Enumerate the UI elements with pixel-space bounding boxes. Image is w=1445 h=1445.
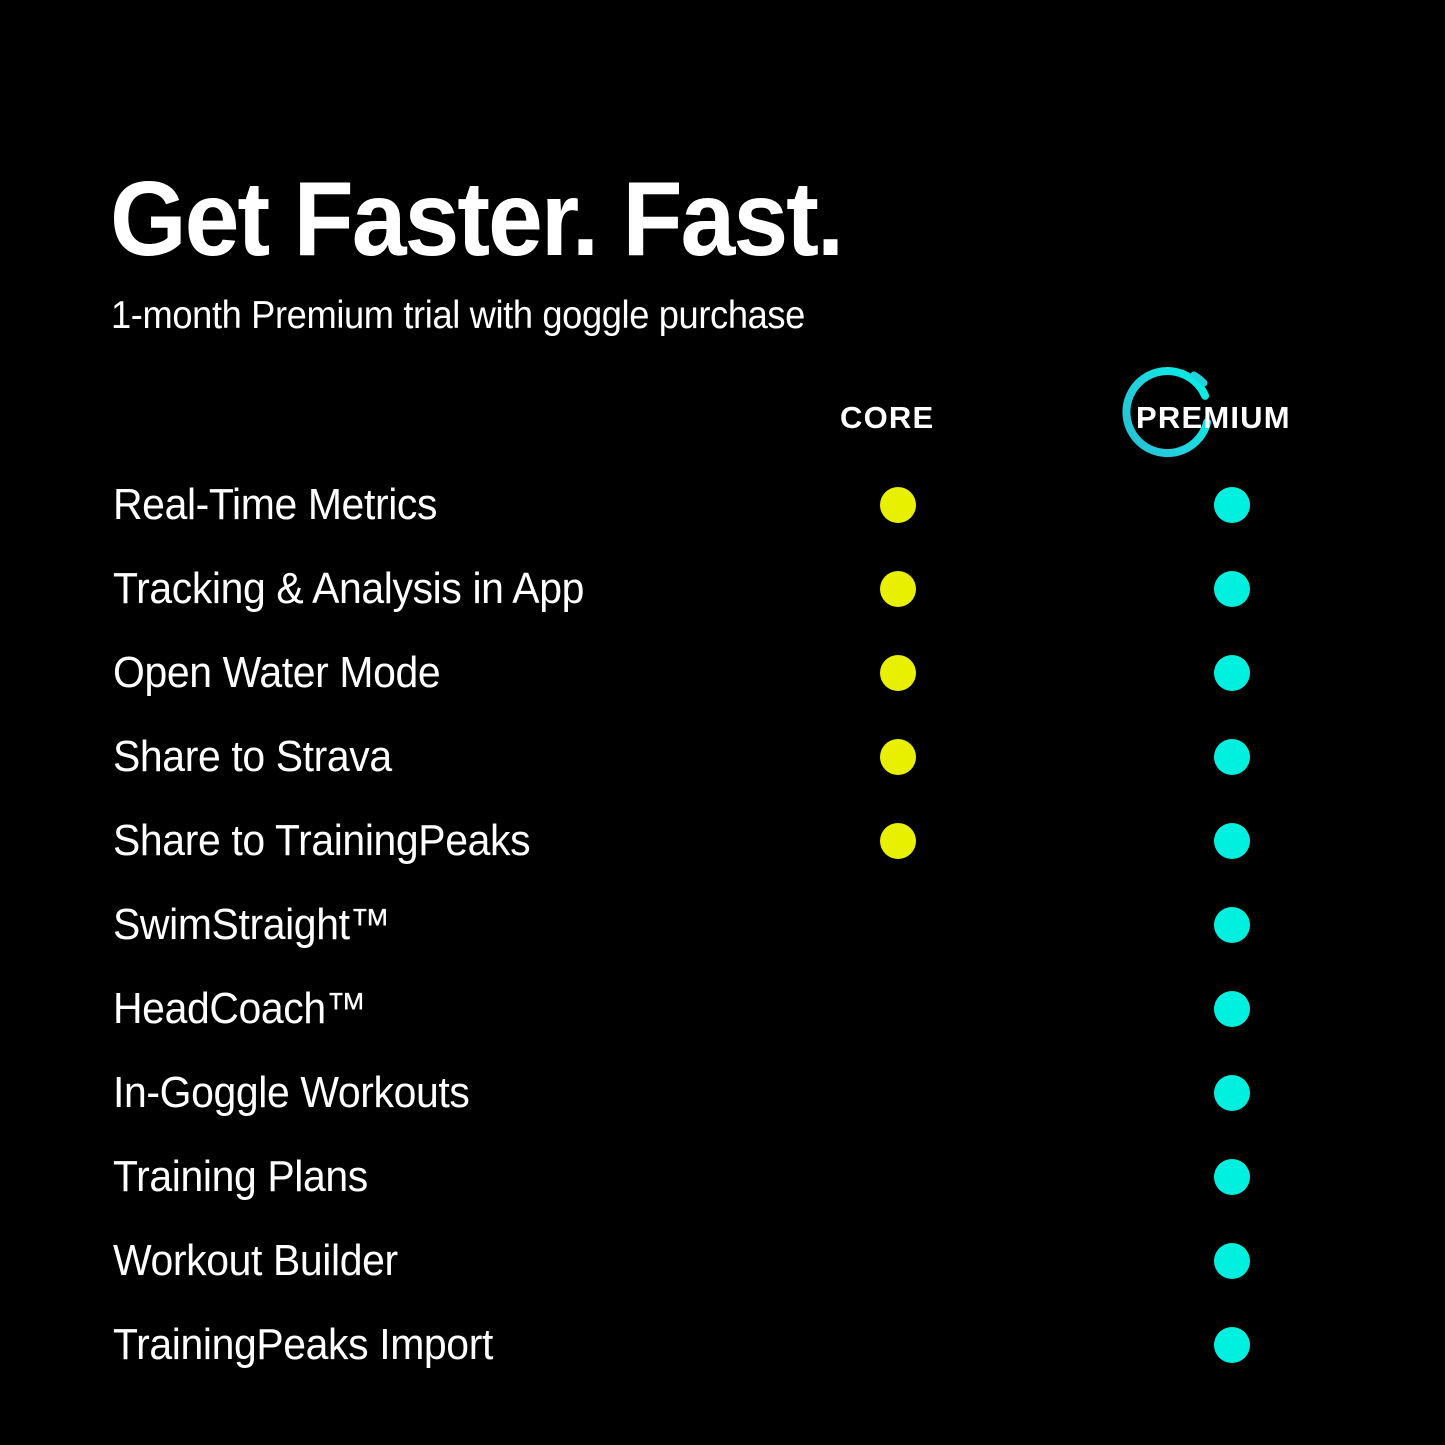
table-row: Tracking & Analysis in App	[0, 547, 1445, 631]
page-subtitle: 1-month Premium trial with goggle purcha…	[111, 296, 805, 335]
page-title: Get Faster. Fast.	[110, 166, 842, 272]
table-row: Training Plans	[0, 1135, 1445, 1219]
table-row: Share to TrainingPeaks	[0, 799, 1445, 883]
feature-label: Real-Time Metrics	[113, 483, 437, 527]
core-availability-dot	[880, 739, 916, 775]
core-availability-dot	[880, 487, 916, 523]
promo-comparison-page: Get Faster. Fast. 1-month Premium trial …	[0, 0, 1445, 1445]
table-row: In-Goggle Workouts	[0, 1051, 1445, 1135]
premium-availability-dot	[1214, 1327, 1250, 1363]
premium-availability-dot	[1214, 571, 1250, 607]
premium-availability-dot	[1214, 487, 1250, 523]
table-row: HeadCoach™	[0, 967, 1445, 1051]
premium-availability-dot	[1214, 823, 1250, 859]
premium-availability-dot	[1214, 991, 1250, 1027]
feature-label: Workout Builder	[113, 1239, 398, 1283]
column-header-premium-label: PREMIUM	[1136, 400, 1291, 436]
table-row: TrainingPeaks Import	[0, 1303, 1445, 1387]
feature-label: Tracking & Analysis in App	[113, 567, 584, 611]
feature-label: Training Plans	[113, 1155, 368, 1199]
feature-label: HeadCoach™	[113, 987, 366, 1031]
premium-availability-dot	[1214, 1243, 1250, 1279]
column-header-premium: PREMIUM	[1116, 362, 1356, 466]
premium-availability-dot	[1214, 655, 1250, 691]
core-availability-dot	[880, 571, 916, 607]
feature-label: Share to TrainingPeaks	[113, 819, 530, 863]
core-availability-dot	[880, 655, 916, 691]
feature-label: In-Goggle Workouts	[113, 1071, 469, 1115]
premium-availability-dot	[1214, 1075, 1250, 1111]
premium-availability-dot	[1214, 907, 1250, 943]
table-row: Workout Builder	[0, 1219, 1445, 1303]
table-row: Share to Strava	[0, 715, 1445, 799]
feature-label: TrainingPeaks Import	[113, 1323, 493, 1367]
feature-label: Open Water Mode	[113, 651, 440, 695]
column-header-core: CORE	[840, 400, 934, 436]
feature-label: Share to Strava	[113, 735, 392, 779]
core-availability-dot	[880, 823, 916, 859]
feature-label: SwimStraight™	[113, 903, 390, 947]
table-row: SwimStraight™	[0, 883, 1445, 967]
premium-availability-dot	[1214, 1159, 1250, 1195]
table-row: Open Water Mode	[0, 631, 1445, 715]
premium-availability-dot	[1214, 739, 1250, 775]
table-row: Real-Time Metrics	[0, 463, 1445, 547]
